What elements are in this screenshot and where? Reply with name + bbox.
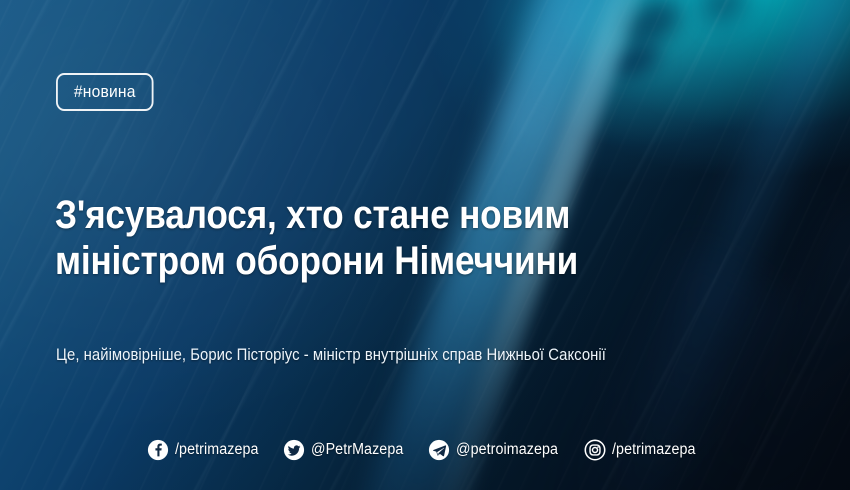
telegram-icon xyxy=(428,439,450,461)
social-link-telegram[interactable]: @petroimazepa xyxy=(428,439,567,461)
social-handle-facebook: /petrimazepa xyxy=(175,441,259,459)
instagram-icon xyxy=(584,439,606,461)
news-card: #новина З'ясувалося, хто стане новим мін… xyxy=(0,0,850,490)
page-title: З'ясувалося, хто стане новим міністром о… xyxy=(55,192,706,284)
social-handle-telegram: @petroimazepa xyxy=(456,441,558,459)
subtitle: Це, найімовірніше, Борис Пісторіус - мін… xyxy=(56,344,740,366)
category-badge[interactable]: #новина xyxy=(56,73,154,111)
social-link-twitter[interactable]: @PetrMazepa xyxy=(283,439,411,461)
twitter-icon xyxy=(283,439,305,461)
social-link-facebook[interactable]: /petrimazepa xyxy=(147,439,266,461)
category-badge-label: #новина xyxy=(74,82,136,102)
social-handle-instagram: /petrimazepa xyxy=(612,441,696,459)
social-link-instagram[interactable]: /petrimazepa xyxy=(584,439,703,461)
social-handle-twitter: @PetrMazepa xyxy=(311,441,403,459)
facebook-icon xyxy=(147,439,169,461)
social-links-bar: /petrimazepa @PetrMazepa @petroimazepa xyxy=(0,435,850,465)
